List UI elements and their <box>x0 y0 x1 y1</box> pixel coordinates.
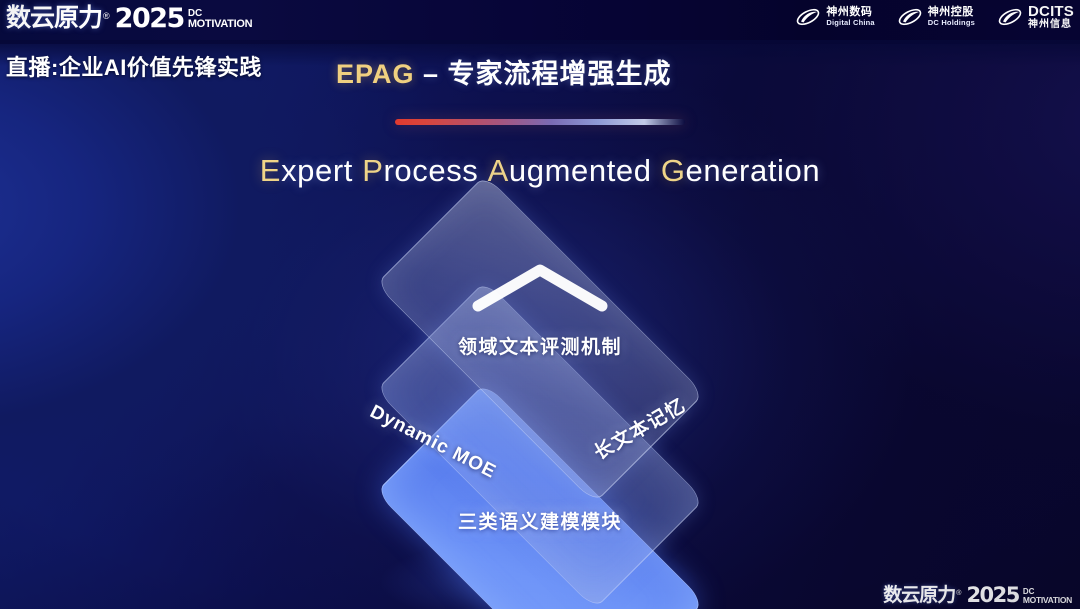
watermark-dc-line2: MOTIVATION <box>1023 596 1072 605</box>
title-word1-capital: E <box>260 153 281 188</box>
swoosh-logo-icon <box>897 6 923 28</box>
brand-dc-motivation: DC MOTIVATION <box>188 9 252 30</box>
title-word4-capital: G <box>661 153 686 188</box>
corp-name-cn-sub: 神州信息 <box>1028 20 1074 31</box>
footer-watermark: 数云原力 ® 2025 DC MOTIVATION <box>883 584 1072 605</box>
gradient-divider <box>395 119 685 125</box>
corp-label-digital-china: 神州数码 Digital China <box>826 7 874 26</box>
diagram-label-bottom: 三类语义建模模块 <box>275 507 805 534</box>
epag-chinese-subtitle: – 专家流程增强生成 <box>415 59 672 89</box>
brand-logo: 数云原力 ® 2025 DC MOTIVATION <box>6 4 252 31</box>
watermark-year: 2025 <box>966 585 1018 606</box>
corp-logo-dc-holdings: 神州控股 DC Holdings <box>897 6 975 28</box>
title-word3-rest: ugmented <box>509 153 652 188</box>
title-word1-rest: xpert <box>281 153 353 188</box>
title-word2-rest: rocess <box>384 153 479 188</box>
layered-architecture-diagram: 领域文本评测机制 Dynamic MOE 长文本记忆 三类语义建模模块 <box>275 222 805 587</box>
swoosh-logo-icon <box>997 6 1023 28</box>
swoosh-logo-icon <box>795 6 821 28</box>
corp-logo-digital-china: 神州数码 Digital China <box>795 6 874 28</box>
corp-name-en: DC Holdings <box>928 19 975 27</box>
brand-name-cn: 数云原力 <box>6 6 102 31</box>
watermark-dc-motivation: DC MOTIVATION <box>1023 588 1072 605</box>
live-stream-title: 直播:企业AI价值先锋实践 <box>6 50 262 82</box>
brand-year: 2025 <box>115 5 184 32</box>
diagram-label-top: 领域文本评测机制 <box>275 332 805 359</box>
brand-registered-mark: ® <box>103 11 110 21</box>
watermark-name-cn: 数云原力 <box>883 586 955 605</box>
corp-label-dc-holdings: 神州控股 DC Holdings <box>928 7 975 26</box>
english-title: Expert Process Augmented Generation <box>0 153 1080 189</box>
title-word2-capital: P <box>362 153 383 188</box>
corp-label-dcits: DCITS 神州信息 <box>1028 4 1074 30</box>
corp-name-en: Digital China <box>826 19 874 27</box>
brand-dc-line2: MOTIVATION <box>188 19 252 30</box>
corporate-logo-group: 神州数码 Digital China 神州控股 DC Holdings DCIT… <box>795 4 1074 30</box>
epag-heading: EPAG – 专家流程增强生成 <box>336 52 672 91</box>
corp-name-en-big: DCITS <box>1028 4 1074 20</box>
watermark-registered-mark: ® <box>956 590 961 597</box>
corp-logo-dcits: DCITS 神州信息 <box>997 4 1074 30</box>
slide-canvas: 数云原力 ® 2025 DC MOTIVATION 直播:企业AI价值先锋实践 … <box>0 0 1080 609</box>
title-word4-rest: eneration <box>686 153 821 188</box>
chevron-up-icon <box>468 258 612 316</box>
epag-abbreviation: EPAG <box>336 59 415 89</box>
